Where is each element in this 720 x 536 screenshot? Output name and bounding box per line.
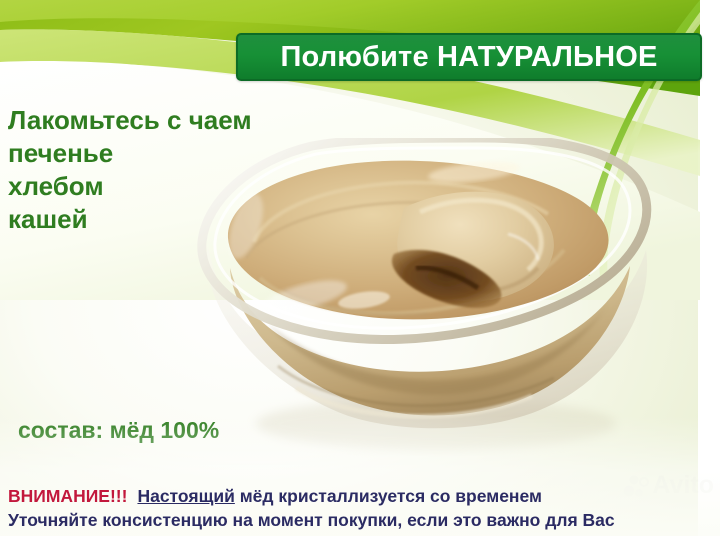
warning-line-1: ВНИМАНИЕ!!!Настоящий мёд кристаллизуется…	[8, 484, 712, 508]
honey-advertisement-poster: Полюбите НАТУРАЛЬНОЕ Лакомьтесь с чаем п…	[0, 0, 720, 536]
warning-line-1-rest: мёд кристаллизуется со временем	[235, 486, 542, 506]
warning-attention-label: ВНИМАНИЕ!!!	[8, 486, 127, 506]
usage-line: Лакомьтесь с чаем	[8, 104, 328, 137]
headline-banner: Полюбите НАТУРАЛЬНОЕ	[236, 33, 702, 81]
warning-block: ВНИМАНИЕ!!!Настоящий мёд кристаллизуется…	[8, 484, 712, 532]
headline-banner-text: Полюбите НАТУРАЛЬНОЕ	[280, 43, 657, 72]
warning-emphasis: Настоящий	[137, 486, 234, 506]
warning-line-2: Уточняйте консистенцию на момент покупки…	[8, 508, 712, 532]
honey-bowl-photo	[188, 138, 664, 456]
